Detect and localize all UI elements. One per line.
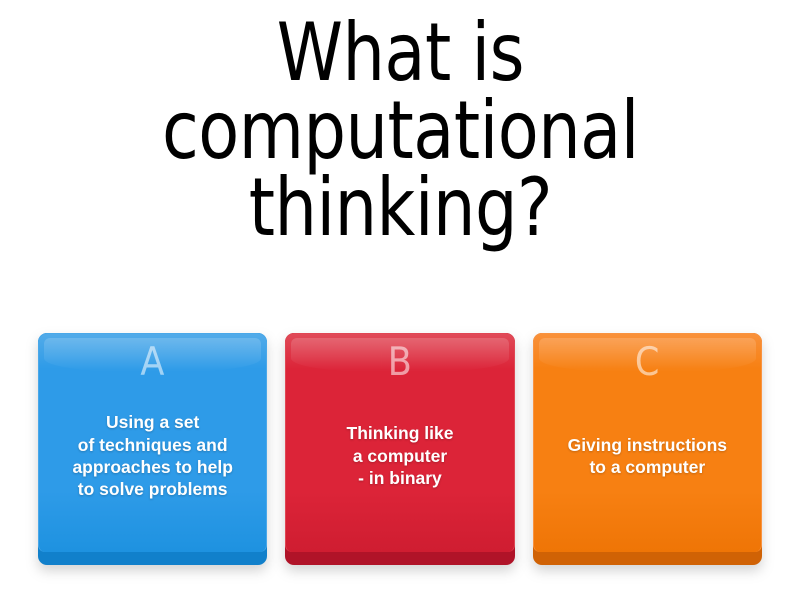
answer-card-face-c: C Giving instructions to a computer — [533, 333, 762, 552]
question-text: What is computational thinking? — [162, 14, 639, 247]
question-area: What is computational thinking? — [0, 14, 800, 304]
answer-option-a[interactable]: A Using a set of techniques and approach… — [38, 333, 267, 565]
answer-letter-b: B — [388, 343, 413, 382]
answer-card-face-b: B Thinking like a computer - in binary — [285, 333, 514, 552]
answer-letter-c: C — [635, 343, 660, 382]
answer-card-face-a: A Using a set of techniques and approach… — [38, 333, 267, 552]
answer-option-b[interactable]: B Thinking like a computer - in binary — [285, 333, 514, 565]
answer-text-c: Giving instructions to a computer — [534, 382, 761, 552]
answer-options-row: A Using a set of techniques and approach… — [38, 333, 762, 565]
quiz-slide: What is computational thinking? A Using … — [0, 0, 800, 600]
answer-letter-a: A — [140, 343, 165, 382]
answer-text-a: Using a set of techniques and approaches… — [39, 382, 266, 552]
answer-text-b: Thinking like a computer - in binary — [286, 382, 513, 552]
answer-option-c[interactable]: C Giving instructions to a computer — [533, 333, 762, 565]
